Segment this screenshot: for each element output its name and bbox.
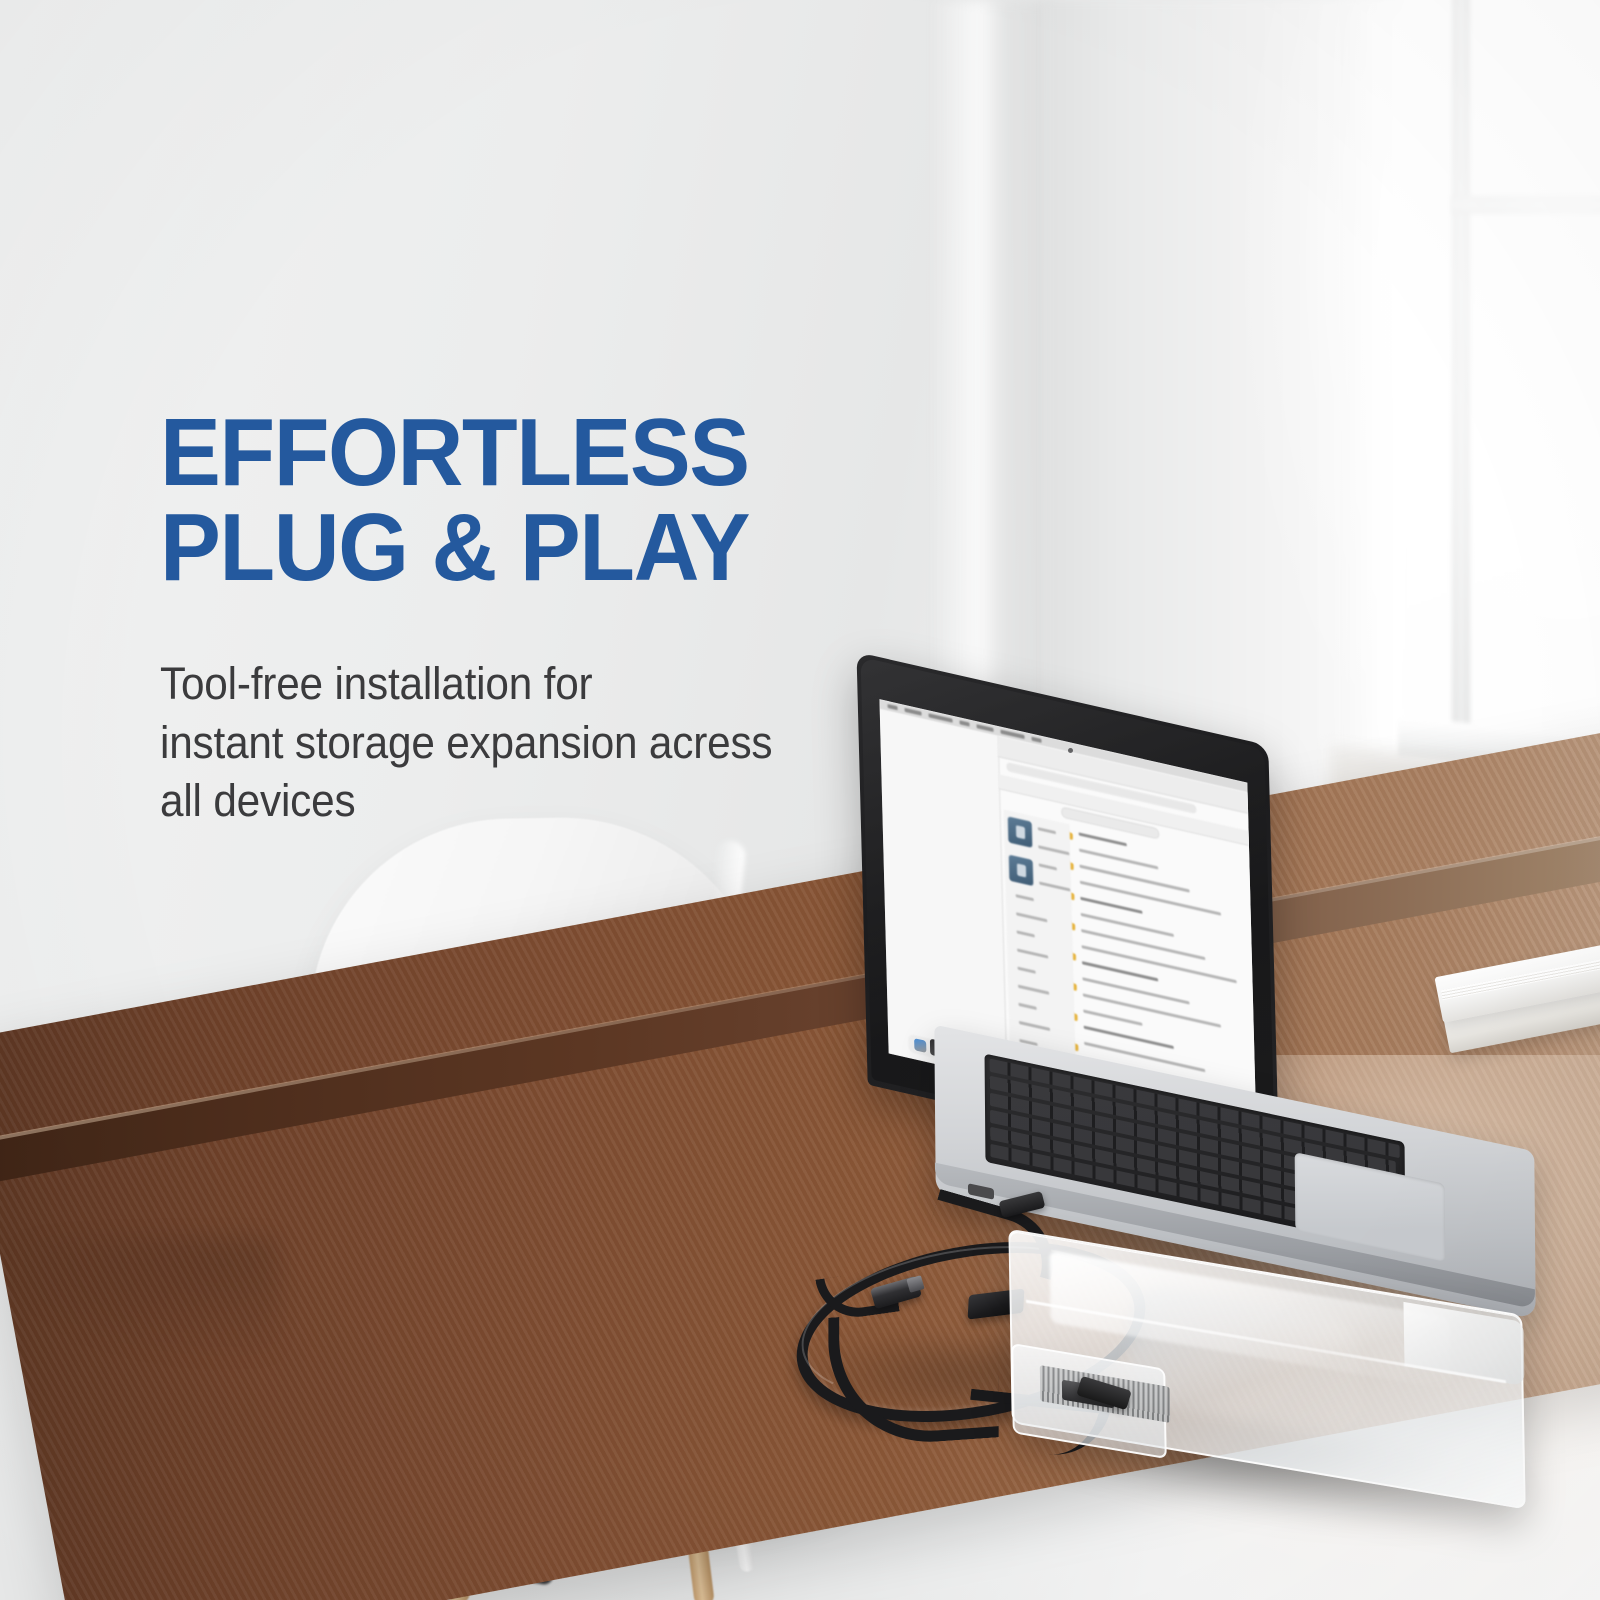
screen-content-row [1080, 881, 1221, 916]
screen-sidebar-row [1017, 948, 1048, 958]
marketing-banner: EFFORTLESS PLUG & PLAY Tool-free install… [0, 0, 1600, 1600]
window-mullion-horizontal [1452, 196, 1600, 214]
screen-sidebar-row [1018, 967, 1036, 974]
screen-sidebar-row [1039, 863, 1057, 870]
screen-content-row [1080, 865, 1190, 893]
screen-sidebar-row [1016, 894, 1034, 901]
desk-corner-shadow [0, 1236, 280, 1366]
screen-content-row [1081, 929, 1205, 960]
screen-menubar-item [1031, 737, 1041, 743]
screen-content-row [1080, 897, 1142, 914]
screen-sidebar-row [1018, 985, 1049, 995]
screen-sidebar-thumbnail [1008, 816, 1033, 848]
screen-content-row [1083, 1010, 1142, 1026]
screen-sidebar-thumbnail [1009, 855, 1034, 887]
screen-content-row [1082, 977, 1189, 1004]
screen-content-row [1083, 993, 1221, 1027]
page-subtitle: Tool-free installation for instant stora… [160, 655, 846, 831]
screen-sidebar-row [1038, 827, 1056, 834]
screen-sidebar-row [1039, 881, 1070, 891]
screen-sidebar-row [1019, 1021, 1050, 1031]
screen-menubar-item [888, 704, 898, 710]
screen-sidebar-row [1038, 845, 1069, 855]
screen-content-row [1082, 961, 1158, 981]
screen-sidebar-row [1019, 1003, 1037, 1010]
screen-content-row [1082, 945, 1237, 983]
screen-sidebar-row [1016, 912, 1047, 922]
screen-content-row [1079, 832, 1127, 846]
screen-menubar-item [960, 720, 970, 726]
window-mullion-vertical [1452, 0, 1470, 750]
laptop-camera-icon [1068, 748, 1073, 753]
page-headline: EFFORTLESS PLUG & PLAY [160, 405, 882, 595]
screen-dock-icon [914, 1038, 926, 1053]
window [1404, 0, 1600, 780]
screen-browser-window-left [880, 709, 1007, 1080]
screen-sidebar-row [1017, 930, 1035, 937]
